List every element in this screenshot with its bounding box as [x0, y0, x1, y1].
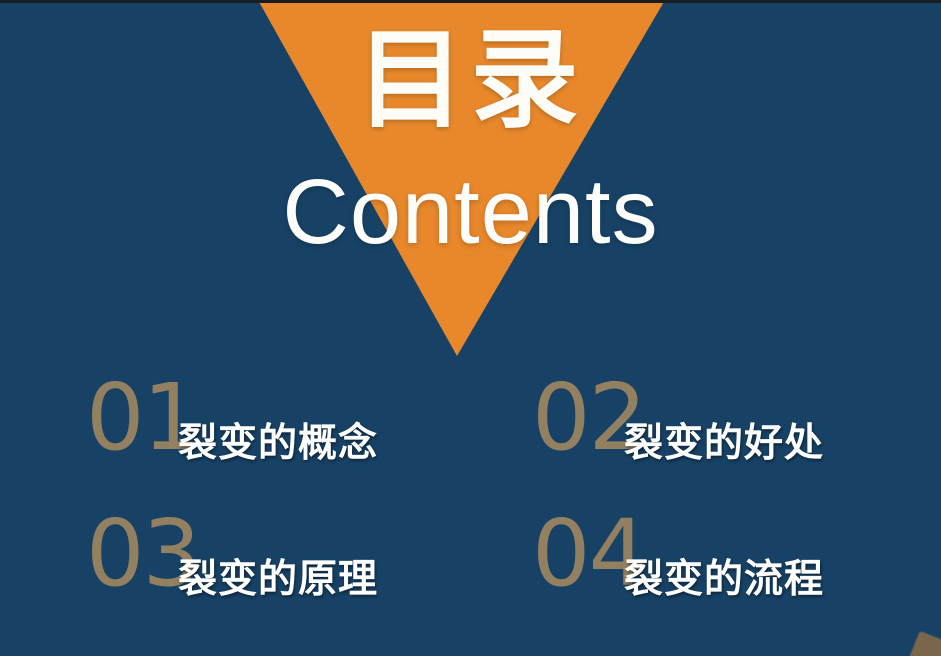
presentation-slide: 目录 Contents 01 裂变的概念 02 裂变的好处 03 裂变的原理 0… [0, 0, 941, 656]
contents-list: 01 裂变的概念 02 裂变的好处 03 裂变的原理 04 裂变的流程 [0, 372, 941, 656]
contents-item-03[interactable]: 03 裂变的原理 [86, 508, 506, 640]
contents-item-02[interactable]: 02 裂变的好处 [532, 372, 941, 504]
contents-item-label: 裂变的流程 [624, 560, 824, 599]
contents-item-label: 裂变的概念 [178, 424, 378, 463]
contents-item-01[interactable]: 01 裂变的概念 [86, 372, 506, 504]
page-title-chinese: 目录 [0, 26, 941, 134]
contents-item-label: 裂变的原理 [178, 560, 378, 599]
contents-item-04[interactable]: 04 裂变的流程 [532, 508, 941, 640]
top-edge-strip [0, 0, 941, 3]
contents-item-label: 裂变的好处 [624, 424, 824, 463]
page-title-english: Contents [0, 166, 941, 258]
